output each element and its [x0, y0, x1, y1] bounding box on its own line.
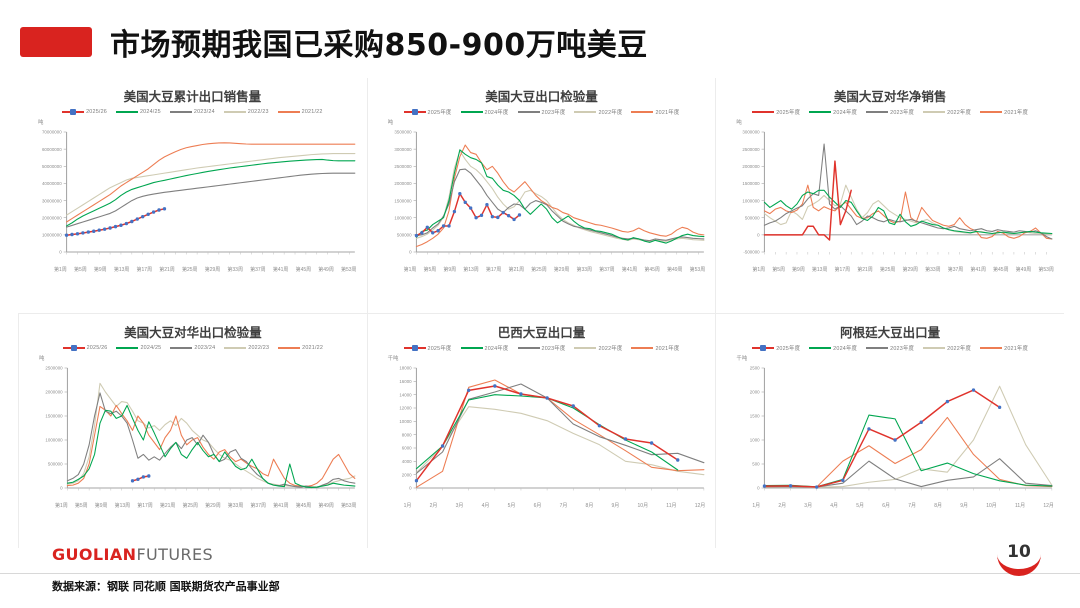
legend-swatch-icon [170, 344, 192, 352]
svg-text:3000000: 3000000 [394, 147, 412, 152]
svg-text:0: 0 [59, 250, 62, 255]
legend-item-2025[interactable]: 2025年度 [752, 344, 800, 352]
page-title: 市场预期我国已采购850-900万吨美豆 [110, 20, 648, 64]
legend-label: 2021/22 [302, 345, 323, 351]
legend-label: 2022年度 [947, 344, 971, 352]
svg-text:6000: 6000 [401, 446, 411, 451]
legend-label: 2023年度 [542, 344, 566, 352]
chart-legend: 2025/262024/252023/242022/232021/22 [24, 108, 361, 116]
legend-label: 2024年度 [833, 344, 857, 352]
svg-text:3000000: 3000000 [743, 130, 761, 135]
legend-label: 2022年度 [598, 344, 622, 352]
svg-text:500: 500 [753, 462, 761, 467]
legend-label: 2021年度 [655, 108, 679, 116]
data-source-note: 数据来源：钢联 同花顺 国联期货农产品事业部 [52, 578, 280, 594]
svg-text:18000: 18000 [399, 366, 412, 371]
legend-label: 2022/23 [248, 345, 269, 351]
svg-text:2500000: 2500000 [743, 147, 761, 152]
legend-swatch-icon [631, 344, 653, 352]
legend-item-2023[interactable]: 2023年度 [518, 108, 566, 116]
legend-item-2024[interactable]: 2024年度 [809, 344, 857, 352]
svg-text:2500: 2500 [750, 366, 760, 371]
legend-item-2024[interactable]: 2024年度 [461, 108, 509, 116]
legend-item-202526[interactable]: 2025/26 [63, 344, 108, 352]
svg-text:4000: 4000 [401, 459, 411, 464]
red-swoosh-icon [996, 552, 1042, 586]
chart-title: 阿根廷大豆出口量 [722, 322, 1058, 341]
legend-item-202526[interactable]: 2025/26 [62, 108, 107, 116]
legend-label: 2023/24 [194, 345, 215, 351]
legend-label: 2023年度 [542, 108, 566, 116]
footer-divider [0, 573, 1080, 574]
legend-item-2023[interactable]: 2023年度 [866, 108, 914, 116]
legend-label: 2021年度 [1004, 344, 1028, 352]
legend-label: 2022年度 [598, 108, 622, 116]
legend-item-202122[interactable]: 2021/22 [278, 344, 323, 352]
svg-text:-500000: -500000 [744, 250, 761, 255]
y-axis-unit-label: 吨 [736, 118, 1058, 126]
plot-area: 0200040006000800010000120001400016000180… [374, 362, 710, 504]
legend-swatch-icon [170, 108, 192, 116]
brand-logo-primary: GUOLIAN [52, 545, 136, 564]
legend-item-202122[interactable]: 2021/22 [278, 108, 323, 116]
svg-text:10000000: 10000000 [42, 232, 62, 237]
legend-label: 2023年度 [890, 344, 914, 352]
legend-item-202223[interactable]: 2022/23 [224, 344, 269, 352]
legend-swatch-icon [116, 108, 138, 116]
legend-swatch-icon [224, 108, 246, 116]
chart-title: 美国大豆对华净销售 [722, 86, 1058, 105]
svg-text:1500000: 1500000 [394, 198, 412, 203]
svg-text:3500000: 3500000 [394, 130, 412, 135]
legend-label: 2022年度 [947, 108, 971, 116]
legend-label: 2024年度 [833, 108, 857, 116]
legend-swatch-icon [62, 108, 84, 116]
slide-root: 市场预期我国已采购850-900万吨美豆 美国大豆累计出口销售量2025/262… [0, 0, 1080, 608]
legend-label: 2024年度 [485, 108, 509, 116]
y-axis-unit-label: 千吨 [736, 354, 1058, 362]
legend-item-2022[interactable]: 2022年度 [574, 344, 622, 352]
chart-panel-us-export-inspections-to-china: 美国大豆对华出口检验量2025/262024/252023/242022/232… [18, 313, 367, 548]
chart-legend: 2025年度2024年度2023年度2022年度2021年度 [722, 108, 1058, 116]
legend-swatch-icon [631, 108, 653, 116]
chart-legend: 2025/262024/252023/242022/232021/22 [25, 344, 361, 352]
svg-text:0: 0 [409, 486, 412, 491]
chart-legend: 2025年度2024年度2023年度2022年度2021年度 [374, 344, 710, 352]
legend-label: 2025年度 [776, 344, 800, 352]
chart-panel-brazil-soybean-exports: 巴西大豆出口量2025年度2024年度2023年度2022年度2021年度千吨0… [367, 313, 716, 548]
legend-label: 2024/25 [140, 109, 161, 115]
plot-area: 0500000100000015000002000000250000030000… [374, 126, 710, 268]
svg-text:2500000: 2500000 [45, 366, 63, 371]
legend-item-2021[interactable]: 2021年度 [631, 108, 679, 116]
legend-swatch-icon [404, 108, 426, 116]
legend-label: 2023/24 [194, 109, 215, 115]
chart-panel-us-cumulative-export-sales: 美国大豆累计出口销售量2025/262024/252023/242022/232… [18, 78, 367, 313]
svg-text:2000: 2000 [401, 472, 411, 477]
legend-item-2022[interactable]: 2022年度 [923, 108, 971, 116]
legend-swatch-icon [278, 108, 300, 116]
chart-panel-us-export-inspections: 美国大豆出口检验量2025年度2024年度2023年度2022年度2021年度吨… [367, 78, 716, 313]
legend-swatch-icon [923, 344, 945, 352]
svg-text:70000000: 70000000 [42, 130, 62, 135]
svg-text:1500000: 1500000 [743, 181, 761, 186]
legend-swatch-icon [752, 108, 774, 116]
legend-label: 2025/26 [86, 109, 107, 115]
legend-item-2025[interactable]: 2025年度 [404, 108, 452, 116]
legend-item-2022[interactable]: 2022年度 [574, 108, 622, 116]
legend-item-202425[interactable]: 2024/25 [116, 108, 161, 116]
header-accent-bar [20, 27, 92, 57]
legend-swatch-icon [518, 344, 540, 352]
svg-text:50000000: 50000000 [42, 164, 62, 169]
page-number-badge: 10 [996, 540, 1042, 586]
chart-panel-us-net-sales-to-china: 美国大豆对华净销售2025年度2024年度2023年度2022年度2021年度吨… [715, 78, 1064, 313]
legend-label: 2024/25 [140, 345, 161, 351]
legend-label: 2025年度 [428, 108, 452, 116]
plot-area: -500000050000010000001500000200000025000… [722, 126, 1058, 268]
legend-item-2025[interactable]: 2025年度 [752, 108, 800, 116]
plot-area: 05001000150020002500 [722, 362, 1058, 504]
svg-text:0: 0 [757, 486, 760, 491]
svg-text:16000: 16000 [399, 379, 412, 384]
legend-swatch-icon [866, 344, 888, 352]
legend-label: 2025年度 [776, 108, 800, 116]
legend-item-202324[interactable]: 2023/24 [170, 108, 215, 116]
y-axis-unit-label: 千吨 [388, 354, 710, 362]
legend-label: 2021/22 [302, 109, 323, 115]
chart-legend: 2025年度2024年度2023年度2022年度2021年度 [722, 344, 1058, 352]
chart-title: 美国大豆累计出口销售量 [24, 86, 361, 105]
legend-label: 2025/26 [87, 345, 108, 351]
legend-label: 2022/23 [248, 109, 269, 115]
svg-text:1500000: 1500000 [45, 414, 63, 419]
chart-title: 巴西大豆出口量 [374, 322, 710, 341]
brand-logo-secondary: FUTURES [136, 545, 213, 564]
legend-item-2023[interactable]: 2023年度 [866, 344, 914, 352]
legend-item-2024[interactable]: 2024年度 [809, 108, 857, 116]
plot-area: 05000001000000150000020000002500000 [25, 362, 361, 504]
svg-text:500000: 500000 [397, 232, 412, 237]
legend-swatch-icon [980, 344, 1002, 352]
legend-item-2024[interactable]: 2024年度 [461, 344, 509, 352]
svg-text:20000000: 20000000 [42, 215, 62, 220]
legend-swatch-icon [574, 344, 596, 352]
chart-legend: 2025年度2024年度2023年度2022年度2021年度 [374, 108, 710, 116]
svg-text:12000: 12000 [399, 406, 412, 411]
svg-text:500000: 500000 [745, 215, 760, 220]
legend-swatch-icon [752, 344, 774, 352]
chart-panel-argentina-soybean-exports: 阿根廷大豆出口量2025年度2024年度2023年度2022年度2021年度千吨… [715, 313, 1064, 548]
legend-swatch-icon [224, 344, 246, 352]
legend-label: 2025年度 [428, 344, 452, 352]
y-axis-unit-label: 吨 [388, 118, 710, 126]
legend-item-2025[interactable]: 2025年度 [404, 344, 452, 352]
svg-text:10000: 10000 [399, 419, 412, 424]
chart-title: 美国大豆出口检验量 [374, 86, 710, 105]
svg-text:2000000: 2000000 [743, 164, 761, 169]
charts-grid: 美国大豆累计出口销售量2025/262024/252023/242022/232… [18, 78, 1064, 548]
svg-text:40000000: 40000000 [42, 181, 62, 186]
legend-label: 2021年度 [655, 344, 679, 352]
legend-item-202223[interactable]: 2022/23 [224, 108, 269, 116]
legend-item-202324[interactable]: 2023/24 [170, 344, 215, 352]
legend-swatch-icon [980, 108, 1002, 116]
legend-swatch-icon [278, 344, 300, 352]
chart-title: 美国大豆对华出口检验量 [25, 322, 361, 341]
svg-text:60000000: 60000000 [42, 147, 62, 152]
legend-swatch-icon [116, 344, 138, 352]
svg-text:1000000: 1000000 [45, 438, 63, 443]
svg-text:2000000: 2000000 [45, 390, 63, 395]
svg-text:1000000: 1000000 [394, 215, 412, 220]
brand-logo: GUOLIANFUTURES [52, 545, 213, 564]
legend-label: 2024年度 [485, 344, 509, 352]
legend-swatch-icon [923, 108, 945, 116]
legend-item-2023[interactable]: 2023年度 [518, 344, 566, 352]
y-axis-unit-label: 吨 [39, 354, 361, 362]
y-axis-unit-label: 吨 [38, 118, 361, 126]
svg-text:1000: 1000 [750, 438, 760, 443]
legend-swatch-icon [809, 344, 831, 352]
legend-swatch-icon [518, 108, 540, 116]
legend-label: 2023年度 [890, 108, 914, 116]
legend-swatch-icon [63, 344, 85, 352]
legend-swatch-icon [574, 108, 596, 116]
legend-item-2022[interactable]: 2022年度 [923, 344, 971, 352]
svg-text:0: 0 [60, 486, 63, 491]
legend-item-2021[interactable]: 2021年度 [980, 108, 1028, 116]
svg-text:2500000: 2500000 [394, 164, 412, 169]
legend-swatch-icon [404, 344, 426, 352]
svg-text:2000: 2000 [750, 390, 760, 395]
svg-text:1000000: 1000000 [743, 198, 761, 203]
legend-label: 2021年度 [1004, 108, 1028, 116]
svg-text:0: 0 [409, 250, 412, 255]
legend-swatch-icon [461, 108, 483, 116]
slide-header: 市场预期我国已采购850-900万吨美豆 [0, 20, 648, 64]
legend-swatch-icon [809, 108, 831, 116]
legend-swatch-icon [461, 344, 483, 352]
svg-text:8000: 8000 [401, 432, 411, 437]
legend-swatch-icon [866, 108, 888, 116]
legend-item-202425[interactable]: 2024/25 [116, 344, 161, 352]
svg-text:30000000: 30000000 [42, 198, 62, 203]
legend-item-2021[interactable]: 2021年度 [980, 344, 1028, 352]
plot-area: 0100000002000000030000000400000005000000… [24, 126, 361, 268]
svg-text:0: 0 [757, 232, 760, 237]
svg-text:2000000: 2000000 [394, 181, 412, 186]
svg-text:500000: 500000 [48, 462, 63, 467]
svg-text:1500: 1500 [750, 414, 760, 419]
legend-item-2021[interactable]: 2021年度 [631, 344, 679, 352]
svg-text:14000: 14000 [399, 392, 412, 397]
